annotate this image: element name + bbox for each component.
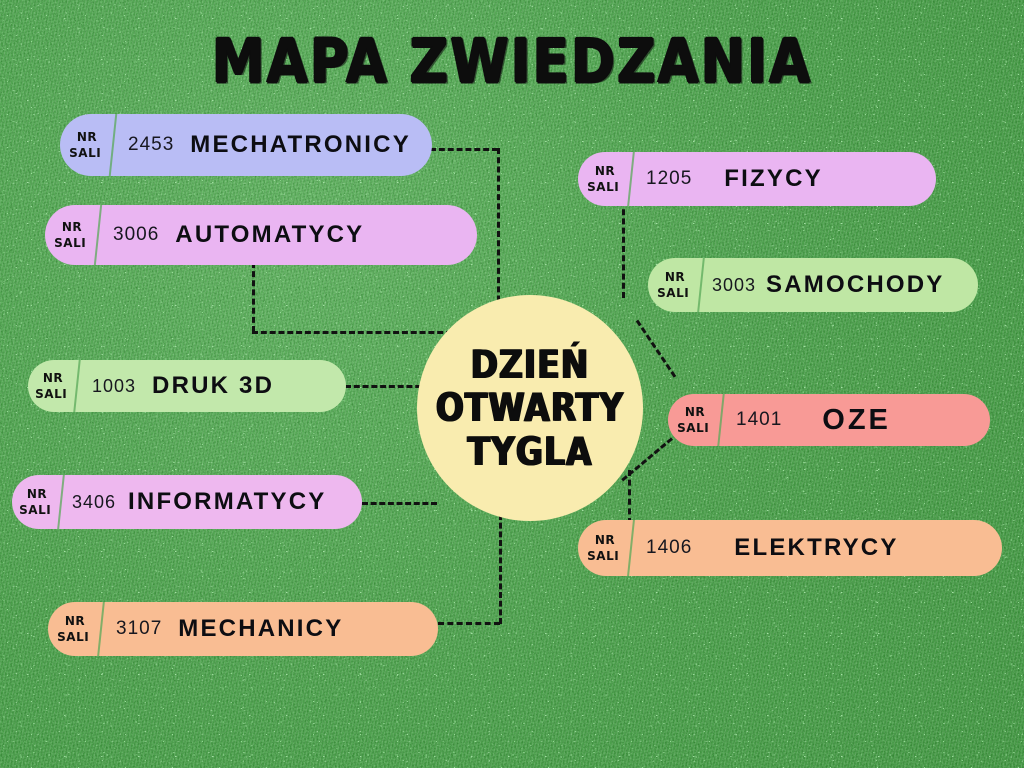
connector-druk3d-horizontal (345, 385, 430, 388)
sali-text: SALI (657, 285, 689, 301)
nr-text: NR (27, 486, 47, 502)
node-informatycy[interactable]: NR SALI 3406 INFORMATYCY (12, 475, 362, 529)
room-number-elektrycy: 1406 (632, 520, 692, 576)
nr-sali-label-druk3d: NR SALI (28, 360, 81, 412)
nr-sali-label-fizycy: NR SALI (578, 152, 635, 206)
connector-mechanicy-vertical (499, 514, 502, 624)
sali-text: SALI (677, 420, 709, 436)
nr-text: NR (595, 163, 615, 179)
sali-text: SALI (69, 145, 101, 161)
room-number-oze: 1401 (722, 394, 782, 446)
nr-sali-label-informatycy: NR SALI (12, 475, 65, 529)
department-name-mechatronicy: MECHATRONICY (174, 114, 411, 176)
nr-text: NR (65, 613, 85, 629)
nr-sali-label-automatycy: NR SALI (45, 205, 102, 265)
department-name-druk3d: DRUK 3D (136, 360, 274, 412)
nr-text: NR (77, 129, 97, 145)
node-elektrycy[interactable]: NR SALI 1406 ELEKTRYCY (578, 520, 1002, 576)
sali-text: SALI (587, 179, 619, 195)
connector-informatycy-horizontal (362, 502, 437, 505)
department-name-mechanicy: MECHANICY (162, 602, 343, 656)
page-title: MAPA ZWIEDZANIA (0, 26, 1024, 97)
sali-text: SALI (35, 386, 67, 402)
nr-sali-label-samochody: NR SALI (648, 258, 705, 312)
connector-mechatronicy-vertical (497, 148, 500, 320)
nr-text: NR (43, 370, 63, 386)
node-oze[interactable]: NR SALI 1401 OZE (668, 394, 990, 446)
node-automatycy[interactable]: NR SALI 3006 AUTOMATYCY (45, 205, 477, 265)
node-mechatronicy[interactable]: NR SALI 2453 MECHATRONICY (60, 114, 432, 176)
center-line-3: TYGLA (467, 425, 592, 477)
node-druk3d[interactable]: NR SALI 1003 DRUK 3D (28, 360, 346, 412)
room-number-samochody: 3003 (702, 258, 756, 312)
node-fizycy[interactable]: NR SALI 1205 FIZYCY (578, 152, 936, 206)
room-number-mechanicy: 3107 (102, 602, 162, 656)
nr-text: NR (62, 219, 82, 235)
room-number-druk3d: 1003 (78, 360, 136, 412)
nr-sali-label-elektrycy: NR SALI (578, 520, 635, 576)
center-hub: DZIEŃ OTWARTY TYGLA (417, 295, 643, 521)
room-number-fizycy: 1205 (632, 152, 692, 206)
nr-text: NR (665, 269, 685, 285)
department-name-fizycy: FIZYCY (692, 152, 823, 206)
connector-mechanicy-horizontal (438, 622, 500, 625)
node-samochody[interactable]: NR SALI 3003 SAMOCHODY (648, 258, 978, 312)
nr-text: NR (685, 404, 705, 420)
department-name-elektrycy: ELEKTRYCY (692, 520, 898, 576)
sali-text: SALI (57, 629, 89, 645)
department-name-automatycy: AUTOMATYCY (159, 205, 364, 265)
department-name-samochody: SAMOCHODY (756, 258, 944, 312)
connector-fizycy-vertical (622, 200, 625, 298)
connector-automatycy-horizontal (252, 331, 452, 334)
connector-elektrycy-vertical (628, 470, 631, 524)
department-name-oze: OZE (782, 394, 891, 446)
nr-sali-label-mechatronicy: NR SALI (60, 114, 117, 176)
room-number-mechatronicy: 2453 (114, 114, 174, 176)
nr-text: NR (595, 532, 615, 548)
connector-automatycy-vertical (252, 262, 255, 332)
node-mechanicy[interactable]: NR SALI 3107 MECHANICY (48, 602, 438, 656)
nr-sali-label-mechanicy: NR SALI (48, 602, 105, 656)
department-name-informatycy: INFORMATYCY (116, 475, 326, 529)
sali-text: SALI (587, 548, 619, 564)
sali-text: SALI (19, 502, 51, 518)
room-number-automatycy: 3006 (99, 205, 159, 265)
sali-text: SALI (54, 235, 86, 251)
nr-sali-label-oze: NR SALI (668, 394, 725, 446)
connector-mechatronicy-horizontal (430, 148, 498, 151)
room-number-informatycy: 3406 (62, 475, 116, 529)
